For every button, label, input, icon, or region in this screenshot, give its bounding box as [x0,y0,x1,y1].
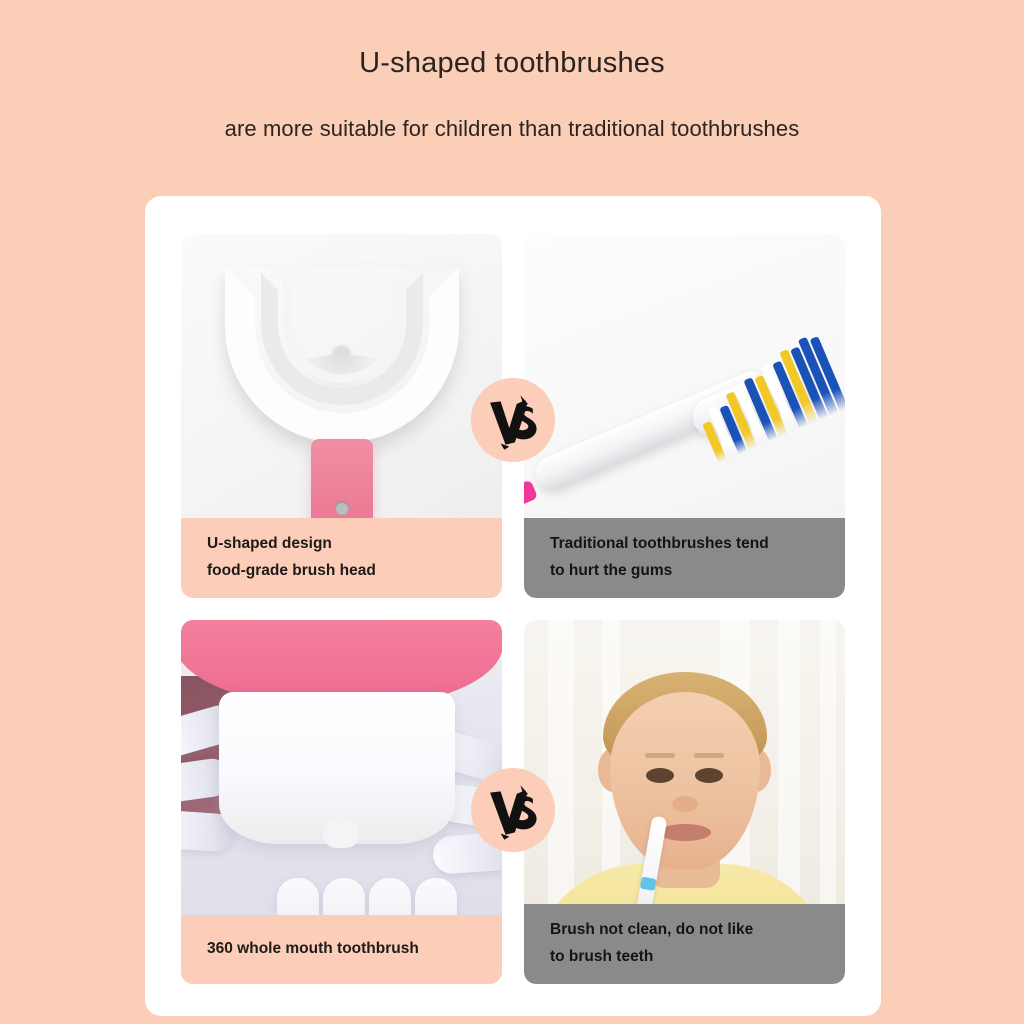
caption-line: to brush teeth [550,943,845,970]
caption-line: to hurt the gums [550,557,845,584]
caption-line: Brush not clean, do not like [550,916,845,943]
panel-whole-mouth-brush[interactable]: 360 whole mouth toothbrush [181,620,502,984]
vs-badge-top [471,378,555,462]
panel-caption: U-shaped design food-grade brush head [181,518,502,598]
header-block: U-shaped toothbrushes are more suitable … [0,0,1024,142]
panel-caption: Brush not clean, do not like to brush te… [524,904,845,984]
page-subtitle: are more suitable for children than trad… [0,116,1024,142]
caption-line: food-grade brush head [207,557,502,584]
panel-caption: 360 whole mouth toothbrush [181,915,502,984]
vs-icon [482,389,544,451]
caption-line: U-shaped design [207,530,502,557]
panel-caption: Traditional toothbrushes tend to hurt th… [524,518,845,598]
panel-child-brushing[interactable]: Brush not clean, do not like to brush te… [524,620,845,984]
vs-icon [482,779,544,841]
caption-line: 360 whole mouth toothbrush [207,935,502,962]
comparison-card: U-shaped design food-grade brush head Tr… [145,196,881,1016]
vs-badge-bottom [471,768,555,852]
comparison-grid: U-shaped design food-grade brush head Tr… [181,234,845,984]
panel-traditional-toothbrush[interactable]: Traditional toothbrushes tend to hurt th… [524,234,845,598]
page-title: U-shaped toothbrushes [0,48,1024,80]
caption-line: Traditional toothbrushes tend [550,530,845,557]
panel-u-shaped-design[interactable]: U-shaped design food-grade brush head [181,234,502,598]
